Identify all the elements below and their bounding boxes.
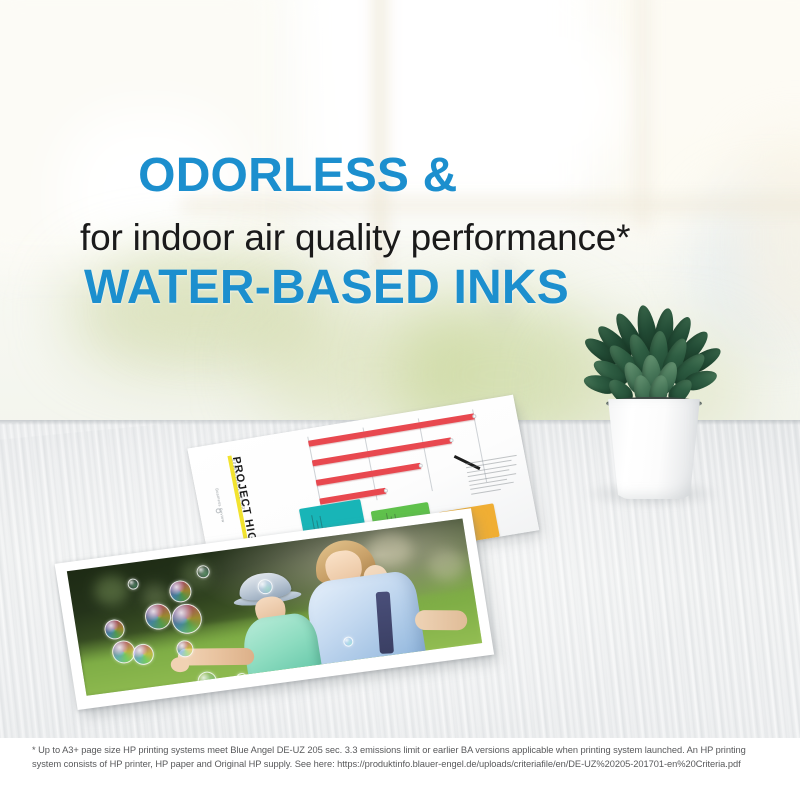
photo-bokeh — [426, 547, 467, 583]
chart-bar — [316, 463, 422, 486]
chart-endpoint — [384, 488, 389, 493]
headline-line-2: WATER-BASED INKS — [84, 260, 569, 316]
footnote-text: * Up to A3+ page size HP printing system… — [32, 744, 772, 771]
advertisement-canvas: ODORLESS & WATER-BASED INKS for indoor a… — [0, 0, 800, 800]
footnote-band: * Up to A3+ page size HP printing system… — [0, 738, 800, 800]
soap-bubble — [143, 602, 173, 631]
chart-endpoint — [418, 463, 423, 468]
headline-line-1: ODORLESS & — [138, 149, 457, 202]
ceramic-pot — [604, 399, 704, 499]
brochure-side-label: Business Review — [214, 488, 226, 523]
chart-endpoint — [472, 414, 477, 419]
headline: ODORLESS & WATER-BASED INKS — [84, 92, 569, 428]
woman-shirt — [304, 569, 428, 680]
potted-succulent — [578, 305, 728, 520]
photo-bokeh — [92, 573, 130, 607]
chart-gridline — [418, 418, 433, 491]
background-warm-tint — [735, 140, 800, 340]
chart-endpoint — [449, 438, 454, 443]
soap-bubble — [127, 578, 140, 590]
woman-arm-lower — [415, 610, 468, 630]
window-mullion-vertical-2 — [636, 0, 649, 230]
brochure-body-copy — [465, 455, 523, 498]
subheadline: for indoor air quality performance* — [80, 216, 630, 260]
